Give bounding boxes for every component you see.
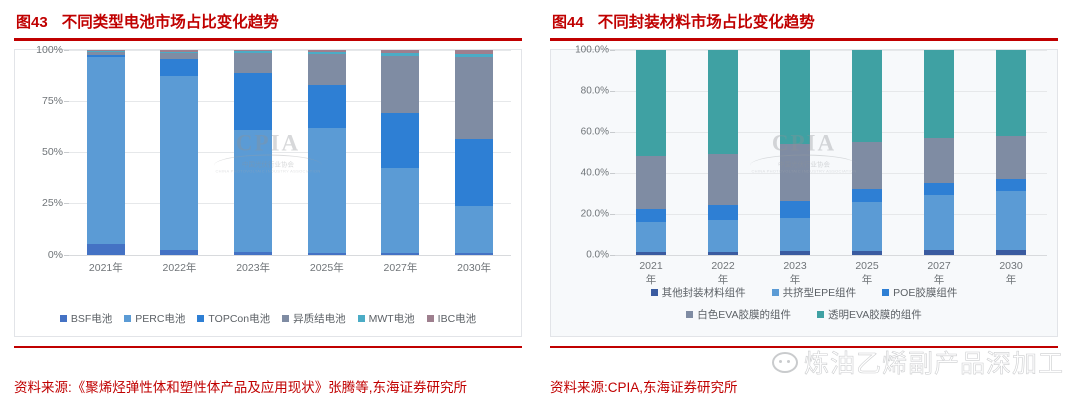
y-axis-tick-label: 40.0% (581, 167, 609, 178)
figure-number: 图44 (552, 11, 584, 32)
bar-segment[interactable] (780, 201, 810, 217)
source-divider (550, 346, 1058, 348)
bar-segment[interactable] (87, 244, 125, 254)
bar-segment[interactable] (852, 202, 882, 251)
page-title: 不同类型电池市场占比变化趋势 (62, 10, 279, 32)
legend-item[interactable]: 透明EVA胶膜的组件 (817, 307, 922, 322)
y-axis-tick-label: 75% (42, 95, 63, 107)
chart-card-left: 0%25%50%75%100% CPIA 中国光伏行业协会 CHINA PHOT… (14, 49, 522, 337)
legend-item[interactable]: 其他封装材料组件 (651, 285, 746, 300)
y-axis-tick-label: 100.0% (575, 44, 609, 55)
y-axis-tick-label: 100% (36, 44, 63, 56)
legend-label: POE胶膜组件 (893, 285, 957, 300)
bar-segment[interactable] (780, 144, 810, 201)
legend-swatch (282, 315, 289, 322)
x-axis-tick-label: 2027年 (381, 260, 419, 275)
y-axis-tick-label: 20.0% (581, 208, 609, 219)
bar-segment[interactable] (87, 57, 125, 244)
bar-group (615, 50, 1047, 255)
x-axis-tick-label: 2022年 (708, 260, 738, 287)
source-note: 资料来源:CPIA,东海证券研究所 (550, 378, 1062, 398)
bar-stack[interactable] (381, 50, 419, 255)
bar-segment[interactable] (996, 50, 1026, 136)
x-axis-labels: 2021年2022年2023年2025年2027年2030年 (69, 255, 511, 279)
bar-segment[interactable] (234, 53, 272, 74)
x-axis-tick-label: 2030年 (455, 260, 493, 275)
bar-segment[interactable] (780, 218, 810, 252)
y-axis-tick-label: 80.0% (581, 85, 609, 96)
figure-number: 图43 (16, 11, 48, 32)
x-axis-tick-label: 2021年 (87, 260, 125, 275)
legend-label: PERC电池 (135, 311, 185, 326)
legend-swatch (124, 315, 131, 322)
x-axis-tick-label: 2023年 (234, 260, 272, 275)
bar-stack[interactable] (708, 50, 738, 255)
legend-item[interactable]: PERC电池 (124, 311, 185, 326)
legend-label: IBC电池 (438, 311, 477, 326)
bar-segment[interactable] (455, 206, 493, 253)
title-divider (14, 38, 522, 41)
legend-swatch (358, 315, 365, 322)
legend-label: 其他封装材料组件 (662, 285, 746, 300)
figure-heading-left: 图43 不同类型电池市场占比变化趋势 (14, 0, 522, 38)
legend-swatch (60, 315, 67, 322)
bar-segment[interactable] (708, 220, 738, 253)
x-axis-tick-label: 2027年 (924, 260, 954, 287)
bar-segment[interactable] (160, 59, 198, 76)
y-axis-tick-label: 0% (48, 249, 63, 261)
bar-segment[interactable] (308, 54, 346, 86)
bar-segment[interactable] (636, 156, 666, 209)
bar-segment[interactable] (996, 136, 1026, 179)
x-axis-tick-label: 2025年 (852, 260, 882, 287)
bar-segment[interactable] (308, 128, 346, 253)
chart-gridlines (69, 50, 511, 255)
bar-segment[interactable] (636, 209, 666, 221)
bar-segment[interactable] (924, 50, 954, 138)
plot-area-right: 0.0%20.0%40.0%60.0%80.0%100.0% CPIA 中国光伏… (551, 50, 1057, 255)
bar-segment[interactable] (780, 50, 810, 144)
legend-swatch (197, 315, 204, 322)
legend-label: 异质结电池 (293, 311, 346, 326)
legend-item[interactable]: BSF电池 (60, 311, 112, 326)
legend-label: 共挤型EPE组件 (783, 285, 857, 300)
x-axis-tick-label: 2022年 (160, 260, 198, 275)
bar-stack[interactable] (996, 50, 1026, 255)
legend-swatch (427, 315, 434, 322)
legend-item[interactable]: MWT电池 (358, 311, 415, 326)
legend-label: TOPCon电池 (208, 311, 270, 326)
x-axis-tick-label: 2030年 (996, 260, 1026, 287)
x-axis-tick-label: 2021年 (636, 260, 666, 287)
legend-swatch (882, 289, 889, 296)
bar-segment[interactable] (996, 179, 1026, 191)
bar-stack[interactable] (87, 50, 125, 255)
bar-segment[interactable] (636, 50, 666, 157)
legend-label: 白色EVA胶膜的组件 (697, 307, 791, 322)
x-axis-tick-label: 2023年 (780, 260, 810, 287)
bar-segment[interactable] (924, 138, 954, 183)
bar-segment[interactable] (996, 191, 1026, 250)
legend-label: 透明EVA胶膜的组件 (828, 307, 922, 322)
bar-stack[interactable] (852, 50, 882, 255)
chart-legend-right: 其他封装材料组件共挤型EPE组件POE胶膜组件白色EVA胶膜的组件透明EVA胶膜… (551, 285, 1057, 322)
bar-segment[interactable] (708, 50, 738, 155)
page-root: 图43 不同类型电池市场占比变化趋势 0%25%50%75%100% CPIA … (0, 0, 1072, 404)
bar-group (69, 50, 511, 255)
legend-label: BSF电池 (71, 311, 112, 326)
legend-swatch (686, 311, 693, 318)
legend-swatch (651, 289, 658, 296)
x-axis-tick-label: 2025年 (308, 260, 346, 275)
legend-swatch (817, 311, 824, 318)
plot-area-left: 0%25%50%75%100% CPIA 中国光伏行业协会 CHINA PHOT… (15, 50, 521, 255)
bar-segment[interactable] (234, 130, 272, 252)
bar-segment[interactable] (381, 168, 419, 253)
bar-segment[interactable] (708, 154, 738, 205)
legend-item[interactable]: IBC电池 (427, 311, 477, 326)
bar-segment[interactable] (381, 56, 419, 113)
y-axis-tick-label: 50% (42, 146, 63, 158)
bar-stack[interactable] (234, 50, 272, 255)
y-axis-tick-label: 25% (42, 197, 63, 209)
bar-stack[interactable] (160, 50, 198, 255)
legend-item[interactable]: POE胶膜组件 (882, 285, 957, 300)
figure-heading-right: 图44 不同封装材料市场占比变化趋势 (550, 0, 1058, 38)
bar-segment[interactable] (636, 222, 666, 253)
bar-segment[interactable] (852, 189, 882, 202)
figure-panel-right: 图44 不同封装材料市场占比变化趋势 0.0%20.0%40.0%60.0%80… (536, 0, 1072, 404)
wechat-watermark-text: 炼油乙烯副产品深加工 (804, 344, 1064, 380)
bar-segment[interactable] (455, 57, 493, 139)
legend-item[interactable]: 白色EVA胶膜的组件 (686, 307, 791, 322)
bar-segment[interactable] (455, 139, 493, 207)
bar-segment[interactable] (852, 50, 882, 142)
bar-segment[interactable] (852, 142, 882, 189)
bar-segment[interactable] (308, 85, 346, 128)
source-divider (14, 346, 522, 348)
wechat-watermark: 炼油乙烯副产品深加工 (772, 344, 1064, 380)
chart-gridlines (615, 50, 1047, 255)
legend-label: MWT电池 (369, 311, 415, 326)
bar-stack[interactable] (455, 50, 493, 255)
legend-item[interactable]: TOPCon电池 (197, 311, 270, 326)
chart-card-right: 0.0%20.0%40.0%60.0%80.0%100.0% CPIA 中国光伏… (550, 49, 1058, 337)
figure-panel-left: 图43 不同类型电池市场占比变化趋势 0%25%50%75%100% CPIA … (0, 0, 536, 404)
bar-segment[interactable] (924, 195, 954, 250)
bar-stack[interactable] (636, 50, 666, 255)
y-axis-tick-label: 60.0% (581, 126, 609, 137)
bar-segment[interactable] (234, 73, 272, 130)
bar-segment[interactable] (381, 113, 419, 168)
legend-swatch (772, 289, 779, 296)
wechat-icon (772, 352, 798, 373)
bar-stack[interactable] (780, 50, 810, 255)
legend-item[interactable]: 异质结电池 (282, 311, 346, 326)
bar-segment[interactable] (924, 183, 954, 195)
bar-segment[interactable] (708, 205, 738, 219)
bar-segment[interactable] (160, 76, 198, 250)
y-axis-labels: 0%25%50%75%100% (15, 50, 69, 255)
y-axis-labels: 0.0%20.0%40.0%60.0%80.0%100.0% (551, 50, 615, 255)
bar-stack[interactable] (308, 50, 346, 255)
chart-legend-left: BSF电池PERC电池TOPCon电池异质结电池MWT电池IBC电池 (15, 311, 521, 326)
page-title: 不同封装材料市场占比变化趋势 (598, 10, 815, 32)
x-axis-labels: 2021年2022年2023年2025年2027年2030年 (615, 255, 1047, 279)
source-note: 资料来源:《聚烯烃弹性体和塑性体产品及应用现状》张腾等,东海证券研究所 (14, 378, 526, 398)
title-divider (550, 38, 1058, 41)
bar-stack[interactable] (924, 50, 954, 255)
y-axis-tick-label: 0.0% (586, 249, 609, 260)
legend-item[interactable]: 共挤型EPE组件 (772, 285, 857, 300)
